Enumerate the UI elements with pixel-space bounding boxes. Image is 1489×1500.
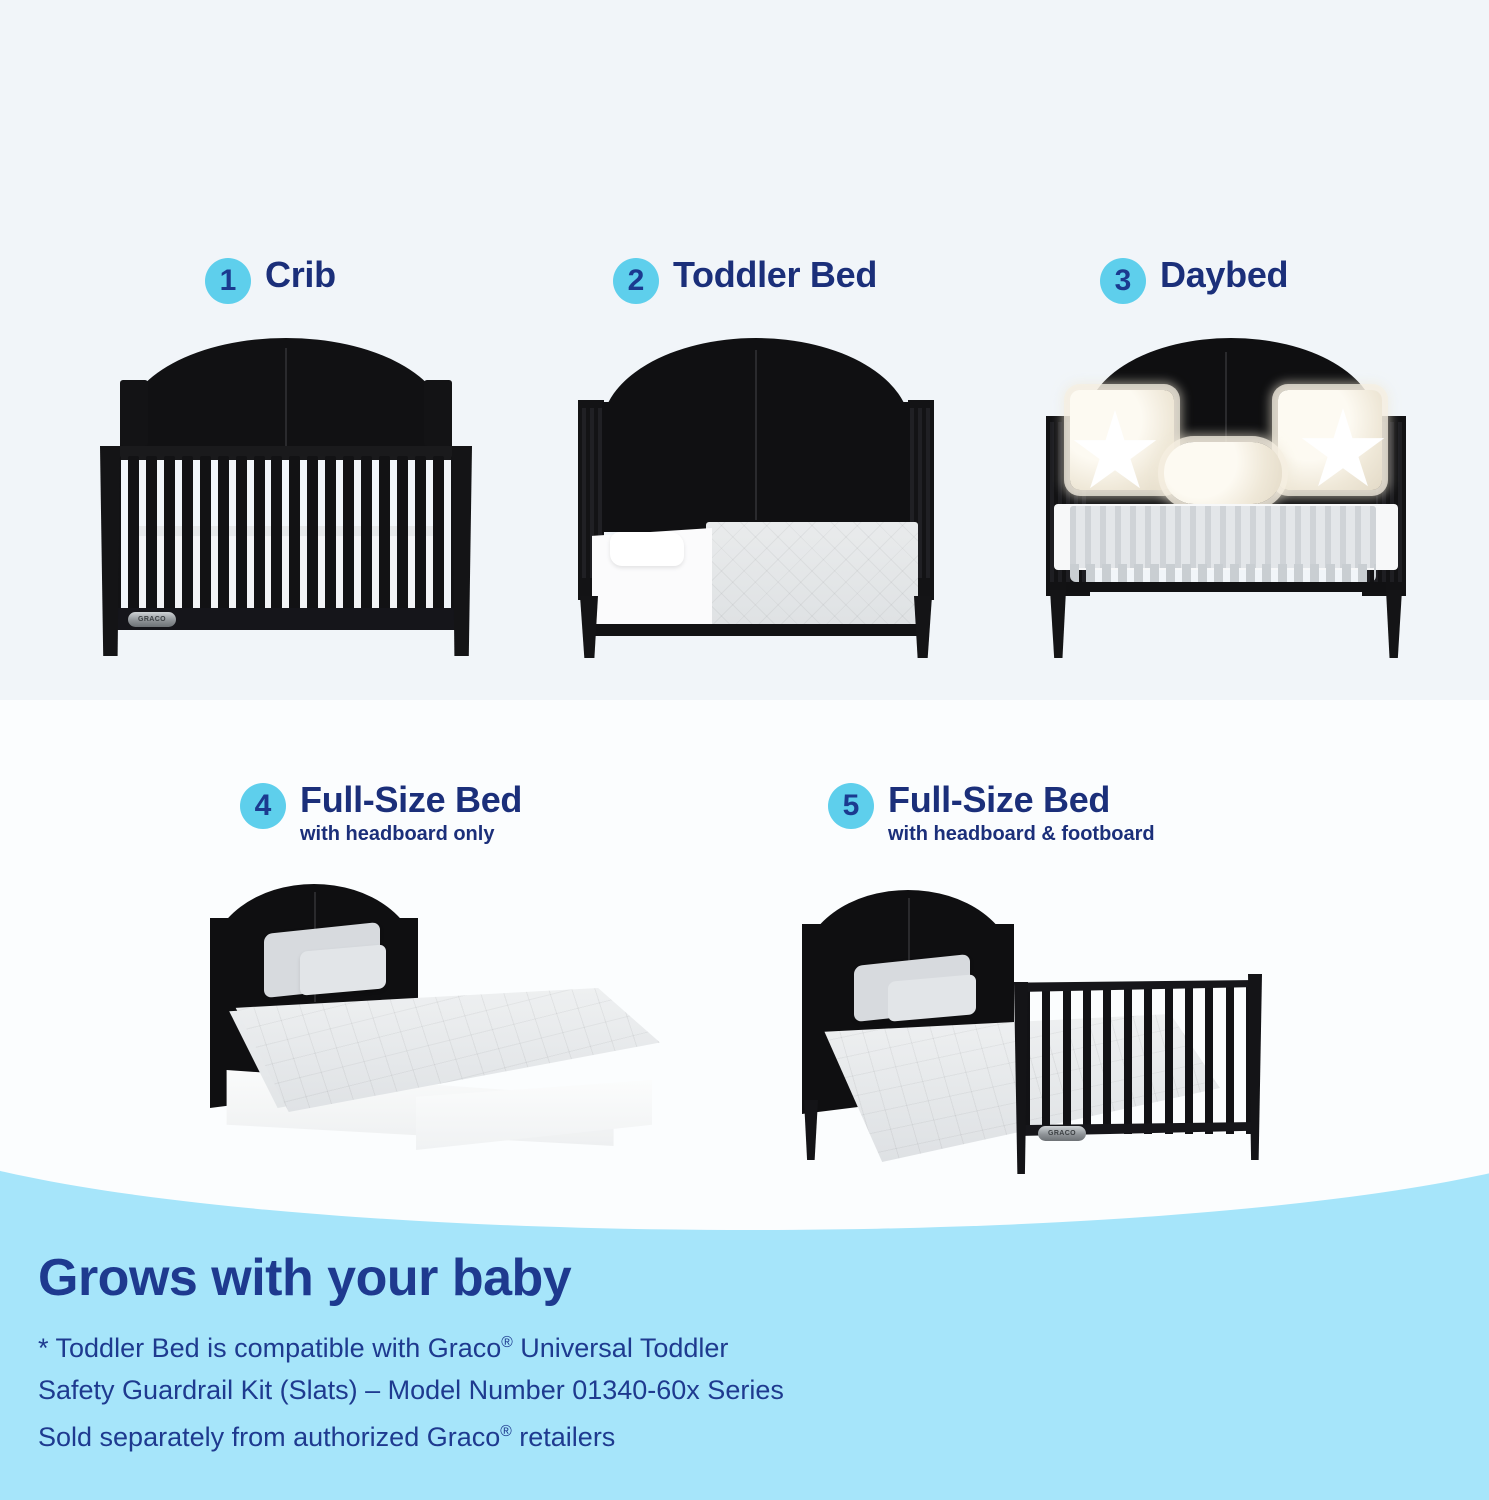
bed5-footboard: GRACO: [1018, 980, 1258, 1180]
toddler-bottom-rail: [592, 624, 918, 636]
config-title-2: Toddler Bed: [673, 256, 877, 294]
daybed-leg-left: [1050, 590, 1066, 658]
toddler-leg-left: [580, 596, 598, 658]
product-image-daybed: [1036, 338, 1416, 668]
bed5-pillow-front: [888, 974, 976, 1022]
crib-headboard-left-shoulder: [120, 380, 148, 446]
daybed-knit-blanket: [1070, 506, 1376, 568]
footnote-line-1: * Toddler Bed is compatible with Graco® …: [38, 1322, 784, 1369]
config-subtitle-5: with headboard & footboard: [888, 821, 1155, 847]
config-label-5: 5 Full-Size Bed with headboard & footboa…: [828, 781, 1155, 847]
bed4-pillow-front: [300, 944, 386, 996]
product-image-toddler-bed: [566, 338, 946, 668]
step-badge-3: 3: [1100, 258, 1146, 304]
infographic-canvas: 1 Crib 2 Toddler Bed 3 Daybed 4 Full-Siz…: [0, 0, 1489, 1500]
config-label-3: 3 Daybed: [1100, 256, 1288, 304]
config-title-1: Crib: [265, 256, 336, 294]
footer-headline: Grows with your baby: [38, 1248, 571, 1308]
config-label-4: 4 Full-Size Bed with headboard only: [240, 781, 522, 847]
config-title-3: Daybed: [1160, 256, 1288, 294]
footer-notes: * Toddler Bed is compatible with Graco® …: [38, 1322, 784, 1458]
registered-mark: ®: [501, 1334, 513, 1351]
crib-slats: [110, 456, 462, 616]
graco-logo-plate: GRACO: [128, 612, 176, 627]
toddler-leg-right: [914, 596, 932, 658]
daybed-pompom-fringe: [1070, 564, 1376, 582]
config-subtitle-4: with headboard only: [300, 821, 522, 847]
config-title-5: Full-Size Bed: [888, 781, 1155, 819]
toddler-panel-seam: [755, 350, 757, 520]
config-title-4: Full-Size Bed: [300, 781, 522, 819]
config-label-2: 2 Toddler Bed: [613, 256, 877, 304]
config-label-1: 1 Crib: [205, 256, 336, 304]
toddler-quilted-mattress: [706, 522, 918, 624]
crib-headboard-right-shoulder: [424, 380, 452, 446]
crib-panel-seam: [285, 348, 287, 448]
registered-mark: ®: [500, 1423, 512, 1440]
bed5-footboard-post-left: [1014, 982, 1028, 1174]
step-badge-2: 2: [613, 258, 659, 304]
product-image-full-bed-headboard-footboard: GRACO: [788, 890, 1288, 1190]
bed5-footboard-slats: [1022, 984, 1254, 1134]
step-badge-5: 5: [828, 783, 874, 829]
crib-leg-right: [452, 446, 472, 656]
daybed-leg-right: [1386, 590, 1402, 658]
daybed-bottom-rail: [1066, 582, 1386, 592]
product-image-full-bed-headboard-only: [196, 884, 696, 1146]
daybed-fur-bolster: [1164, 442, 1282, 504]
step-badge-1: 1: [205, 258, 251, 304]
bed5-headboard-leg: [804, 1100, 818, 1160]
footnote-line-2: Safety Guardrail Kit (Slats) – Model Num…: [38, 1369, 784, 1411]
footnote-line-3: Sold separately from authorized Graco® r…: [38, 1411, 784, 1458]
step-badge-4: 4: [240, 783, 286, 829]
product-image-crib: GRACO: [86, 338, 486, 668]
crib-leg-left: [100, 446, 120, 656]
graco-logo-plate: GRACO: [1038, 1126, 1086, 1141]
toddler-pillow: [610, 532, 684, 566]
